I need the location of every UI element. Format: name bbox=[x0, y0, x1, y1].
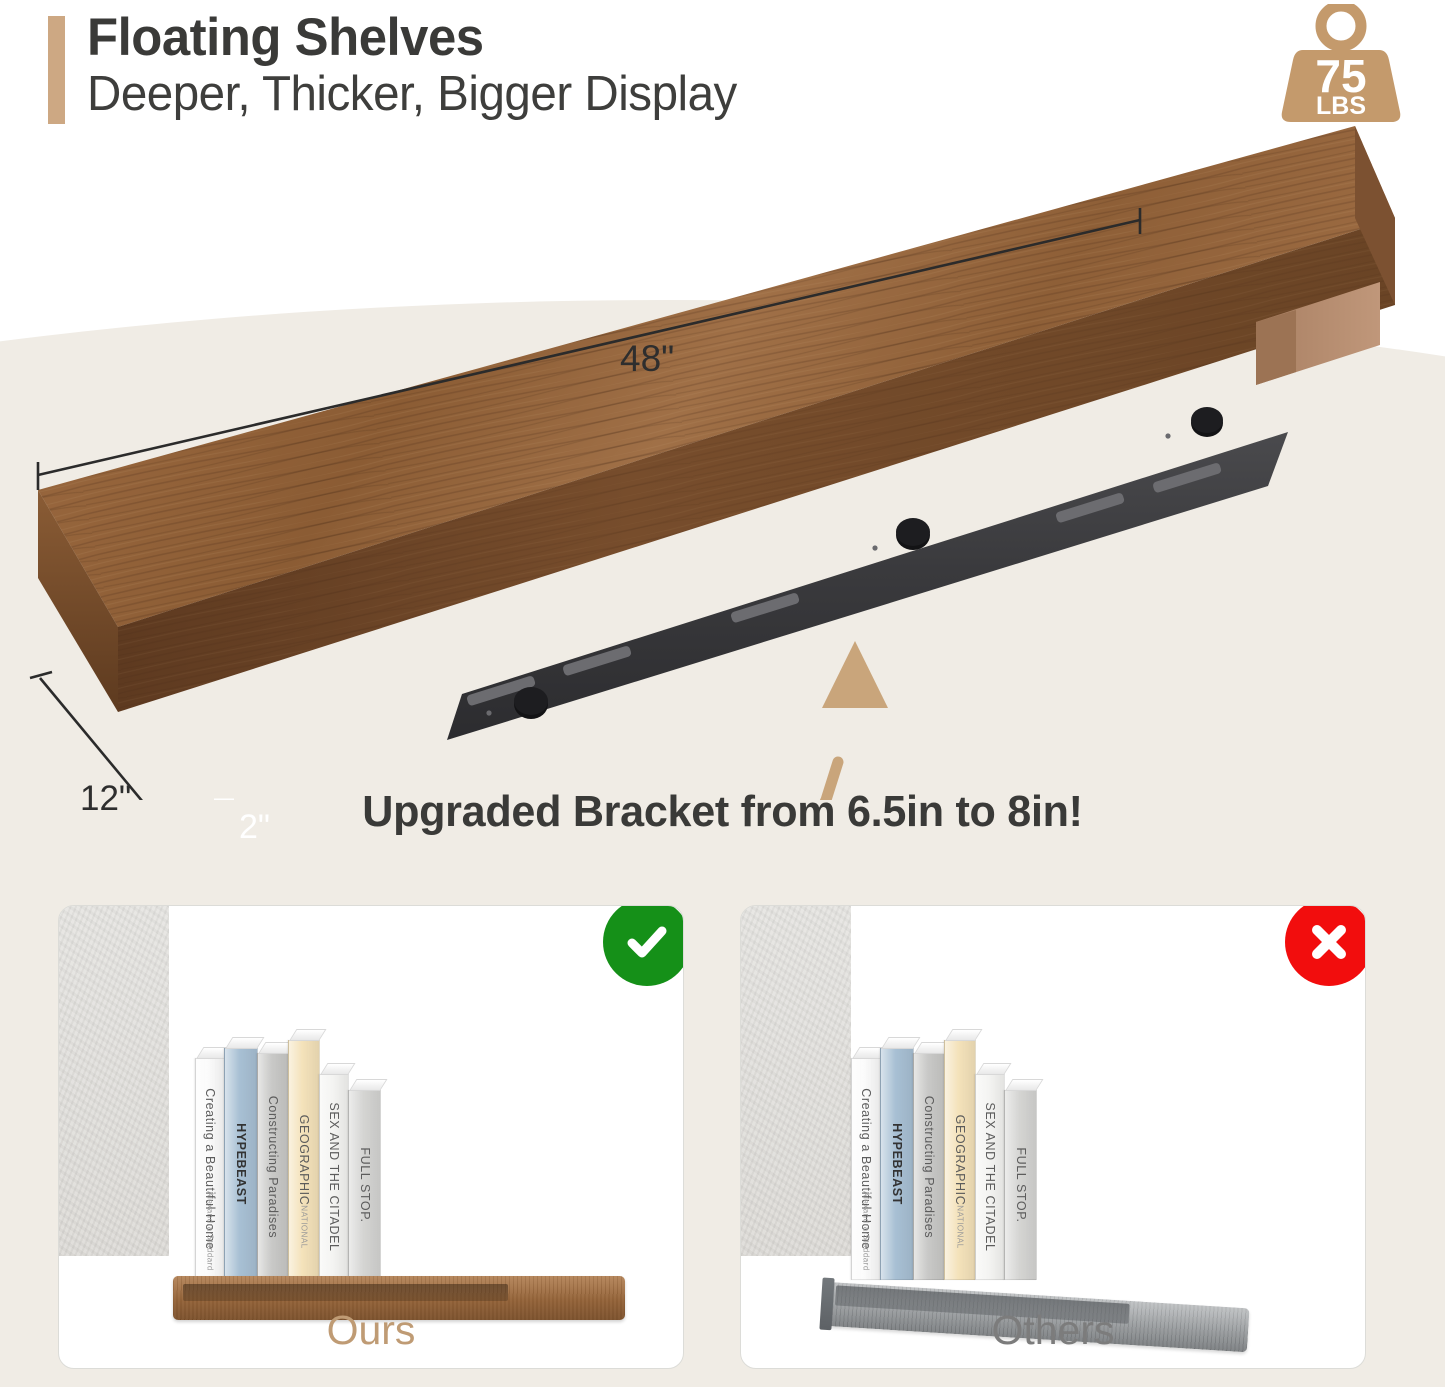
curved-up-arrow-icon bbox=[684, 641, 888, 800]
check-circle-icon bbox=[603, 905, 684, 986]
wall-texture bbox=[741, 906, 851, 1256]
book-top-edge bbox=[1005, 1079, 1043, 1091]
book-title: FULL STOP. bbox=[1014, 1147, 1028, 1222]
book-top-edge bbox=[349, 1079, 387, 1091]
book-top-edge bbox=[945, 1029, 982, 1041]
book-author: NATIONAL bbox=[300, 1205, 309, 1248]
book-title: FULL STOP. bbox=[358, 1147, 372, 1222]
book-stack-others: Creating a Beautiful HomeAlexandra Stodd… bbox=[851, 1040, 1036, 1280]
upgrade-headline: Upgraded Bracket from 6.5in to 8in! bbox=[14, 787, 1430, 837]
book-top-edge bbox=[320, 1063, 355, 1075]
book-top-edge bbox=[976, 1063, 1011, 1075]
book-item: Constructing Paradises bbox=[913, 1053, 945, 1280]
book-title: SEX AND THE CITADEL bbox=[983, 1102, 997, 1251]
book-title: Constructing Paradises bbox=[922, 1095, 936, 1237]
book-item: GEOGRAPHICNATIONAL bbox=[288, 1040, 320, 1280]
dimension-length: 48" bbox=[620, 338, 674, 380]
book-item: FULL STOP. bbox=[1004, 1090, 1037, 1280]
book-stack-ours: Creating a Beautiful HomeAlexandra Stodd… bbox=[195, 1040, 380, 1280]
book-item: GEOGRAPHICNATIONAL bbox=[944, 1040, 976, 1280]
book-title: HYPEBEAST bbox=[234, 1123, 248, 1205]
book-top-edge bbox=[881, 1037, 920, 1049]
book-item: Creating a Beautiful HomeAlexandra Stodd… bbox=[851, 1058, 881, 1280]
book-author: Alexandra Stoddard bbox=[206, 1191, 215, 1271]
shelf-ours-underside bbox=[183, 1284, 508, 1301]
book-author: Alexandra Stoddard bbox=[862, 1191, 871, 1271]
page-title: Floating Shelves bbox=[87, 10, 730, 65]
book-item: Creating a Beautiful HomeAlexandra Stodd… bbox=[195, 1058, 225, 1280]
wall-texture bbox=[59, 906, 169, 1256]
caption-others: Others bbox=[741, 1307, 1365, 1354]
book-title: SEX AND THE CITADEL bbox=[327, 1102, 341, 1251]
infographic-canvas: Floating Shelves Deeper, Thicker, Bigger… bbox=[0, 0, 1445, 1387]
x-circle-icon bbox=[1285, 905, 1366, 986]
book-top-edge bbox=[225, 1037, 264, 1049]
book-item: Constructing Paradises bbox=[257, 1053, 289, 1280]
book-item: FULL STOP. bbox=[348, 1090, 381, 1280]
book-item: SEX AND THE CITADEL bbox=[975, 1074, 1005, 1280]
book-item: HYPEBEAST bbox=[880, 1048, 914, 1280]
x-glyph bbox=[1303, 916, 1355, 968]
book-title: GEOGRAPHIC bbox=[953, 1115, 967, 1206]
comparison-panel-others: Creating a Beautiful HomeAlexandra Stodd… bbox=[740, 905, 1366, 1369]
book-title: GEOGRAPHIC bbox=[297, 1115, 311, 1206]
book-item: HYPEBEAST bbox=[224, 1048, 258, 1280]
book-author: NATIONAL bbox=[956, 1205, 965, 1248]
product-illustration: 48" 12" 2" bbox=[0, 100, 1445, 800]
shelf-svg bbox=[0, 100, 1445, 800]
check-glyph bbox=[621, 916, 673, 968]
book-title: HYPEBEAST bbox=[890, 1123, 904, 1205]
caption-ours: Ours bbox=[59, 1307, 683, 1354]
comparison-panel-ours: Creating a Beautiful HomeAlexandra Stodd… bbox=[58, 905, 684, 1369]
comparison-section: Creating a Beautiful HomeAlexandra Stodd… bbox=[0, 905, 1445, 1375]
book-top-edge bbox=[289, 1029, 326, 1041]
book-item: SEX AND THE CITADEL bbox=[319, 1074, 349, 1280]
book-title: Constructing Paradises bbox=[266, 1095, 280, 1237]
